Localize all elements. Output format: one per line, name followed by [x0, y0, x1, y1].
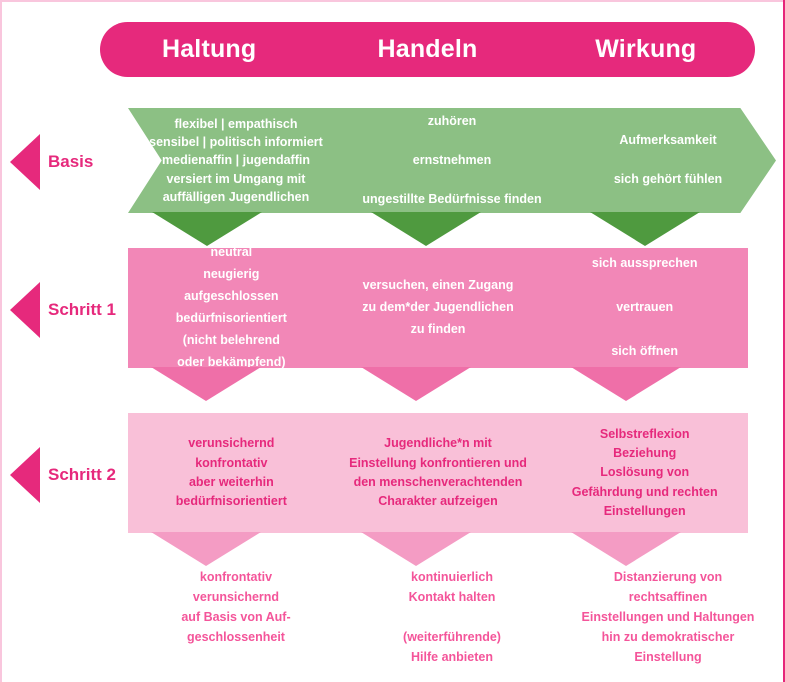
column-header-bar: Haltung Handeln Wirkung — [100, 22, 755, 77]
chevron-down-icon-schritt1-haltung — [151, 367, 261, 401]
chevron-down-icon-basis-handeln — [371, 212, 481, 246]
outcome-cell-wirkung: Distanzierung von rechtsaffinen Einstell… — [560, 567, 776, 667]
band-schritt1: neutral neugierig aufgeschlossen bedürfn… — [128, 248, 748, 368]
stage-marker-schritt1: Schritt 1 — [10, 282, 116, 338]
column-header-handeln: Handeln — [318, 35, 536, 64]
left-arrow-icon — [10, 447, 40, 503]
frame-left-border — [0, 0, 2, 682]
band-schritt2-cell-haltung: verunsichernd konfrontativ aber weiterhi… — [128, 413, 335, 533]
band-schritt2-cell-handeln: Jugendliche*n mit Einstellung konfrontie… — [335, 413, 542, 533]
band-basis: flexibel | empathisch sensibel | politis… — [128, 108, 776, 213]
stage-label-schritt2: Schritt 2 — [48, 465, 116, 485]
chevron-down-icon-schritt2-haltung — [151, 532, 261, 566]
band-schritt2-cell-wirkung: Selbstreflexion Beziehung Loslösung von … — [541, 413, 748, 533]
chevron-down-icon-schritt1-handeln — [361, 367, 471, 401]
band-basis-cell-wirkung: Aufmerksamkeit sich gehört fühlen — [560, 108, 776, 213]
chevron-down-icon-schritt2-handeln — [361, 532, 471, 566]
column-header-wirkung: Wirkung — [537, 35, 755, 64]
band-basis-cell-haltung: flexibel | empathisch sensibel | politis… — [128, 108, 344, 213]
outcome-cell-handeln: kontinuierlich Kontakt halten (weiterfüh… — [344, 567, 560, 667]
left-arrow-icon — [10, 282, 40, 338]
chevron-down-icon-schritt1-wirkung — [571, 367, 681, 401]
stage-marker-schritt2: Schritt 2 — [10, 447, 116, 503]
diagram-canvas: Haltung Handeln Wirkung Basis Schritt 1 … — [0, 0, 785, 682]
band-schritt2: verunsichernd konfrontativ aber weiterhi… — [128, 413, 748, 533]
column-header-haltung: Haltung — [100, 35, 318, 64]
band-schritt1-cell-handeln: versuchen, einen Zugang zu dem*der Jugen… — [335, 248, 542, 368]
chevron-down-icon-schritt2-wirkung — [571, 532, 681, 566]
outcome-row: konfrontativ verunsichernd auf Basis von… — [128, 567, 776, 667]
band-schritt1-cell-haltung: neutral neugierig aufgeschlossen bedürfn… — [128, 248, 335, 368]
band-basis-cell-handeln: zuhören ernstnehmen ungestillte Bedürfni… — [344, 108, 560, 213]
chevron-down-icon-basis-wirkung — [590, 212, 700, 246]
stage-label-basis: Basis — [48, 152, 93, 172]
stage-label-schritt1: Schritt 1 — [48, 300, 116, 320]
stage-marker-basis: Basis — [10, 134, 93, 190]
frame-top-border — [0, 0, 785, 2]
outcome-cell-haltung: konfrontativ verunsichernd auf Basis von… — [128, 567, 344, 667]
left-arrow-icon — [10, 134, 40, 190]
band-schritt1-cell-wirkung: sich aussprechen vertrauen sich öffnen — [541, 248, 748, 368]
chevron-down-icon-basis-haltung — [152, 212, 262, 246]
